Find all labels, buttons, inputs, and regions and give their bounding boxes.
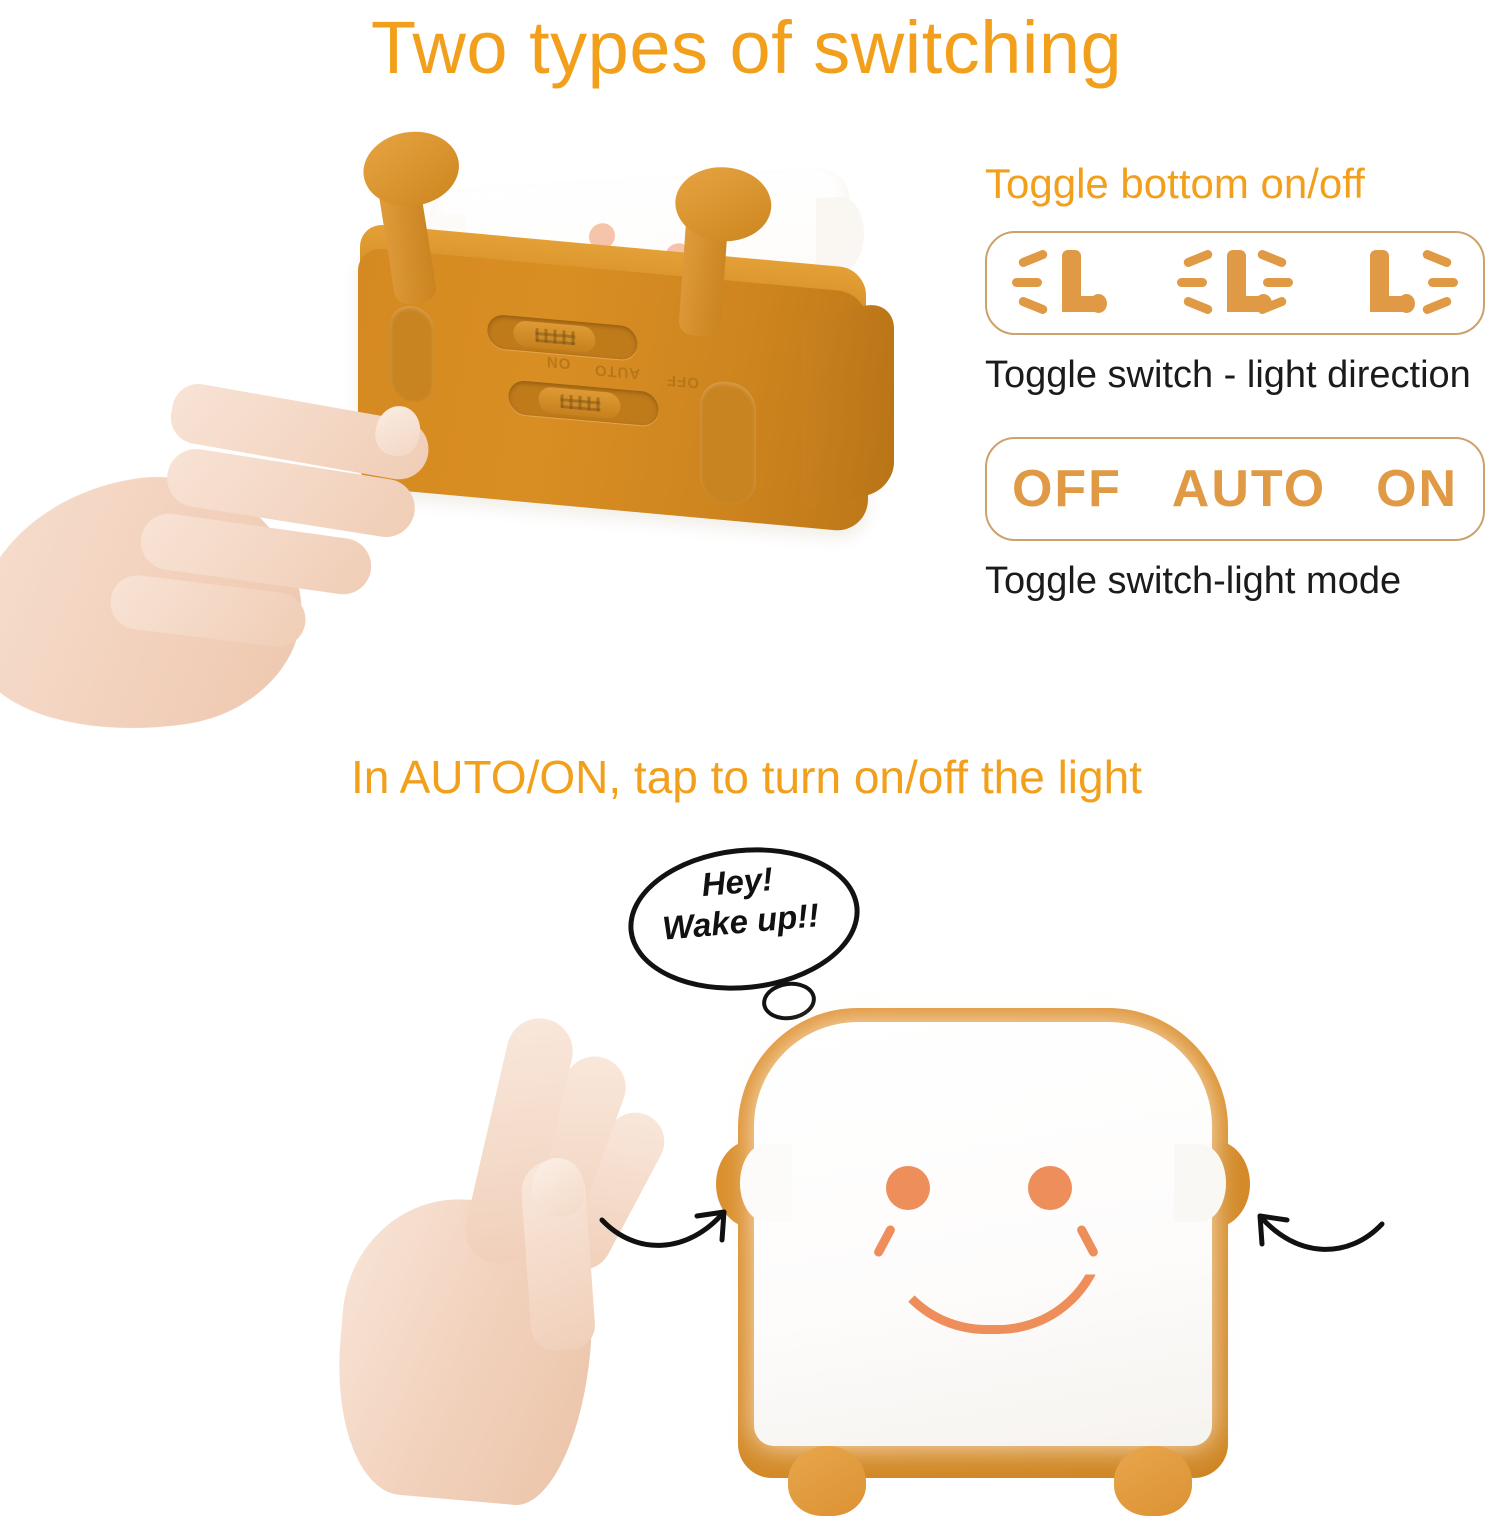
ray	[1422, 296, 1453, 316]
infographic-canvas: Two types of switching light-right light…	[0, 0, 1493, 1500]
mode-switch-slot[interactable]	[508, 380, 659, 427]
light-left-icon	[1006, 246, 1134, 320]
light-right-icon	[1336, 246, 1464, 320]
ray	[1182, 249, 1213, 269]
light-mode-caption: Toggle switch-light mode	[985, 555, 1493, 607]
direction-switch-knob[interactable]	[513, 320, 595, 353]
lamp-foot	[1227, 296, 1269, 312]
knob-ridges	[560, 394, 600, 412]
ray	[1256, 249, 1287, 269]
light-mode-box: OFF AUTO ON	[985, 437, 1485, 541]
hand-pointing-at-switch	[0, 360, 490, 760]
lamp-foot	[1062, 296, 1104, 312]
smiley-left-eye	[886, 1166, 930, 1210]
mode-switch-knob[interactable]	[538, 386, 620, 419]
ray	[1017, 249, 1048, 269]
arrow-tap-right	[1238, 1196, 1388, 1286]
light-direction-caption: Toggle switch - light direction	[985, 349, 1493, 401]
section-subtitle: In AUTO/ON, tap to turn on/off the light	[0, 748, 1493, 806]
lamp-smiley-face	[868, 1166, 1108, 1326]
ray	[1422, 249, 1453, 269]
lamp-foot-right	[1114, 1446, 1192, 1516]
light-direction-box	[985, 231, 1485, 335]
product-switch-label-off: OFF	[666, 371, 699, 391]
mode-label-off: OFF	[1012, 459, 1122, 519]
smiley-mouth	[876, 1224, 1108, 1334]
product-switch-label-auto: AUTO	[594, 361, 641, 382]
ray	[1012, 278, 1042, 287]
mode-label-on: ON	[1376, 459, 1458, 519]
toast-lamp-illustration[interactable]	[738, 1008, 1238, 1500]
ray	[1177, 278, 1207, 287]
arrow-tap-left	[596, 1192, 746, 1282]
product-switch-label-on: ON	[546, 353, 571, 372]
knob-ridges	[535, 328, 575, 346]
mode-label-auto: AUTO	[1172, 459, 1326, 519]
product-body-side-face	[802, 299, 894, 512]
product-switch-plate[interactable]: light-right light-both light-left OFF AU…	[469, 304, 741, 450]
light-both-icon	[1171, 246, 1299, 320]
right-info-column: Toggle bottom on/off	[960, 155, 1493, 607]
lamp-foot-left	[788, 1446, 866, 1516]
page-title: Two types of switching	[0, 2, 1493, 94]
smiley-right-eye	[1028, 1166, 1072, 1210]
right-panel-heading: Toggle bottom on/off	[985, 155, 1493, 213]
ray	[1263, 278, 1293, 287]
ray	[1017, 296, 1048, 316]
lamp-foot	[1370, 296, 1412, 312]
ray	[1182, 296, 1213, 316]
spacer	[960, 401, 1493, 437]
ray	[1428, 278, 1458, 287]
